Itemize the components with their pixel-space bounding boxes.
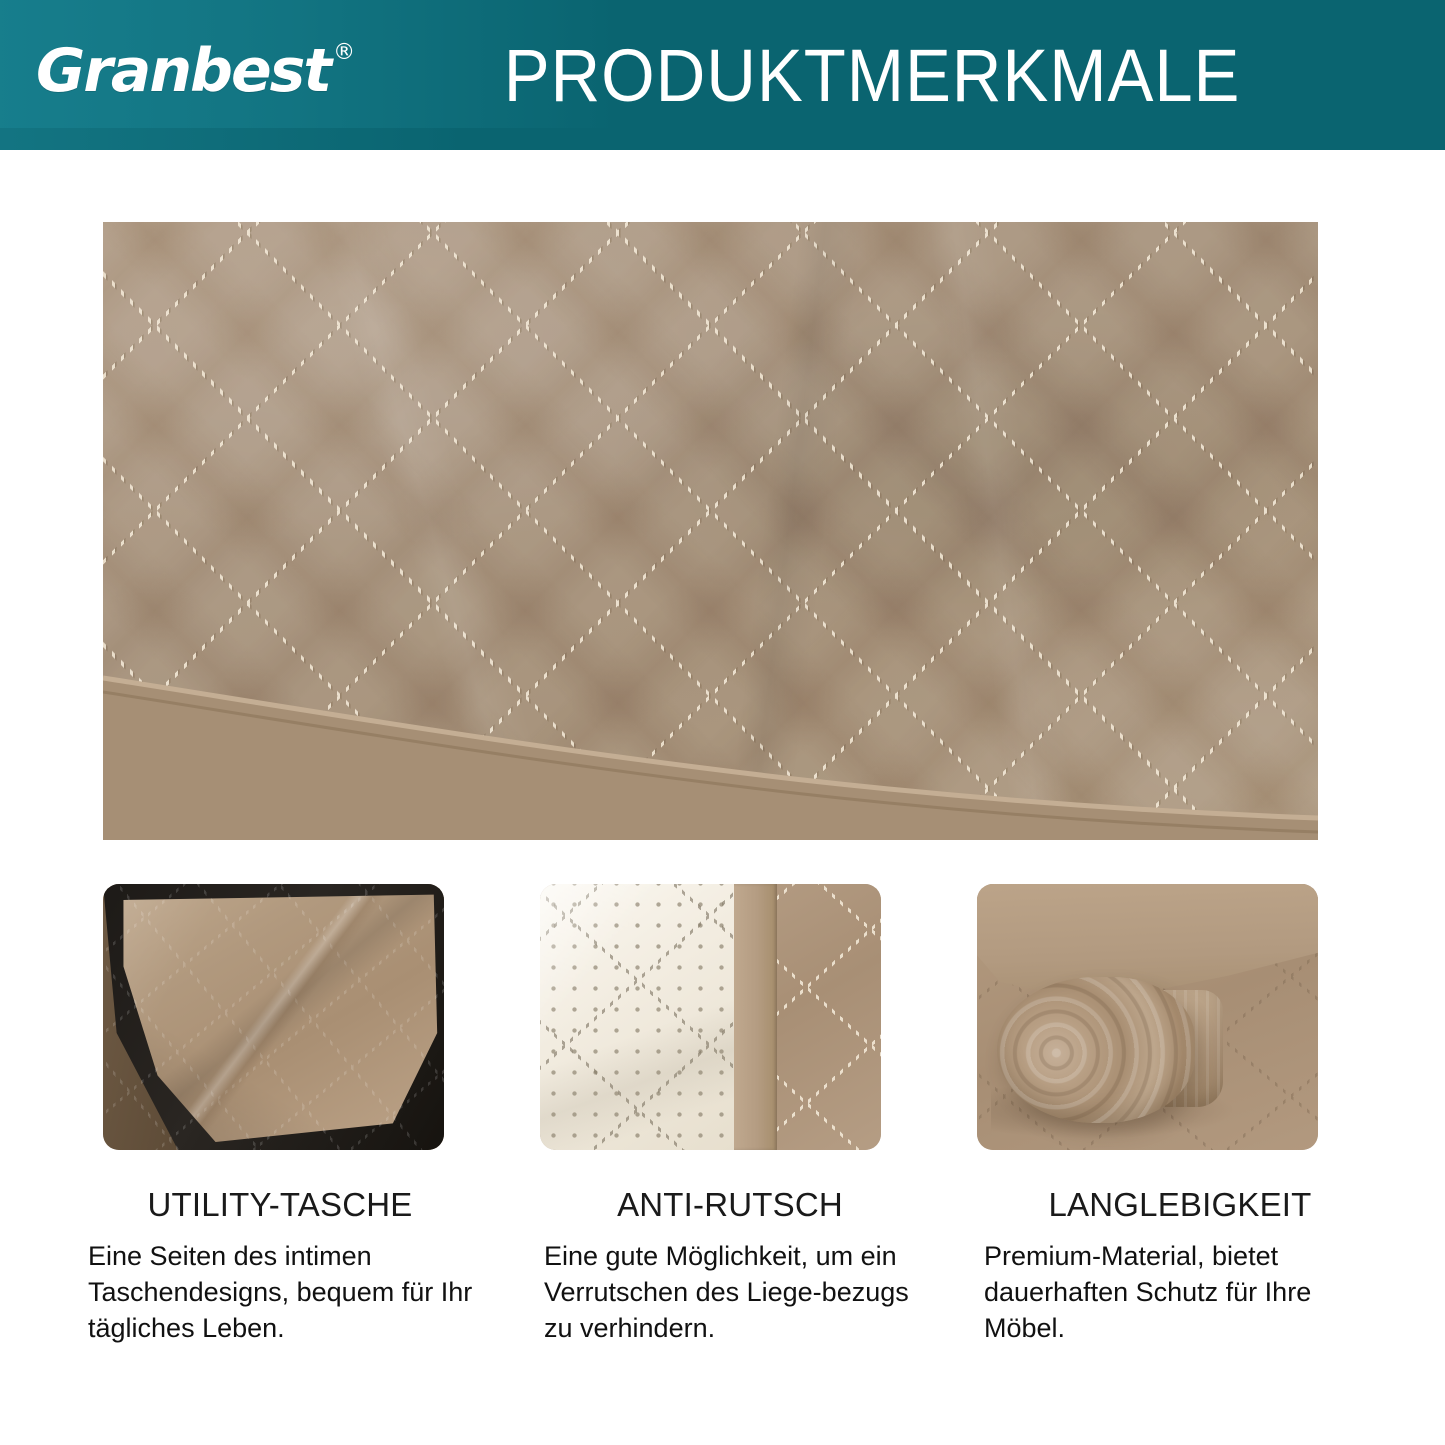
thumb2-cream-antislip-face xyxy=(540,884,734,1150)
page-title-text: PRODUKTMERKMALE xyxy=(504,33,1241,118)
feature-body-utility-pocket: Eine Seiten des intimen Taschendesigns, … xyxy=(80,1238,480,1347)
thumb2-cream-shading xyxy=(540,884,734,1150)
feature-caption-anti-slip: ANTI-RUTSCH Eine gute Möglichkeit, um ei… xyxy=(530,1186,930,1347)
feature-body-durability: Premium-Material, bietet dauerhaften Sch… xyxy=(980,1238,1380,1347)
hero-product-image xyxy=(103,222,1318,840)
feature-thumbnail-row xyxy=(103,884,1318,1150)
page-header: Granbest ® PRODUKTMERKMALE xyxy=(0,0,1445,150)
feature-title-utility-pocket: UTILITY-TASCHE xyxy=(80,1186,480,1224)
feature-thumbnail-utility-pocket xyxy=(103,884,444,1150)
feature-caption-row: UTILITY-TASCHE Eine Seiten des intimen T… xyxy=(80,1186,1380,1347)
feature-thumbnail-durability xyxy=(977,884,1318,1150)
page-title: PRODUKTMERKMALE xyxy=(0,0,1445,150)
feature-body-anti-slip: Eine gute Möglichkeit, um ein Verrutsche… xyxy=(530,1238,930,1347)
thumb2-taupe-face xyxy=(733,884,881,1150)
feature-title-anti-slip: ANTI-RUTSCH xyxy=(530,1186,930,1224)
feature-caption-utility-pocket: UTILITY-TASCHE Eine Seiten des intimen T… xyxy=(80,1186,480,1347)
thumb2-hem-band xyxy=(733,884,777,1150)
feature-title-durability: LANGLEBIGKEIT xyxy=(980,1186,1380,1224)
feature-thumbnail-anti-slip xyxy=(540,884,881,1150)
feature-caption-durability: LANGLEBIGKEIT Premium-Material, bietet d… xyxy=(980,1186,1380,1347)
thumb3-roll-spiral-texture xyxy=(997,977,1195,1123)
